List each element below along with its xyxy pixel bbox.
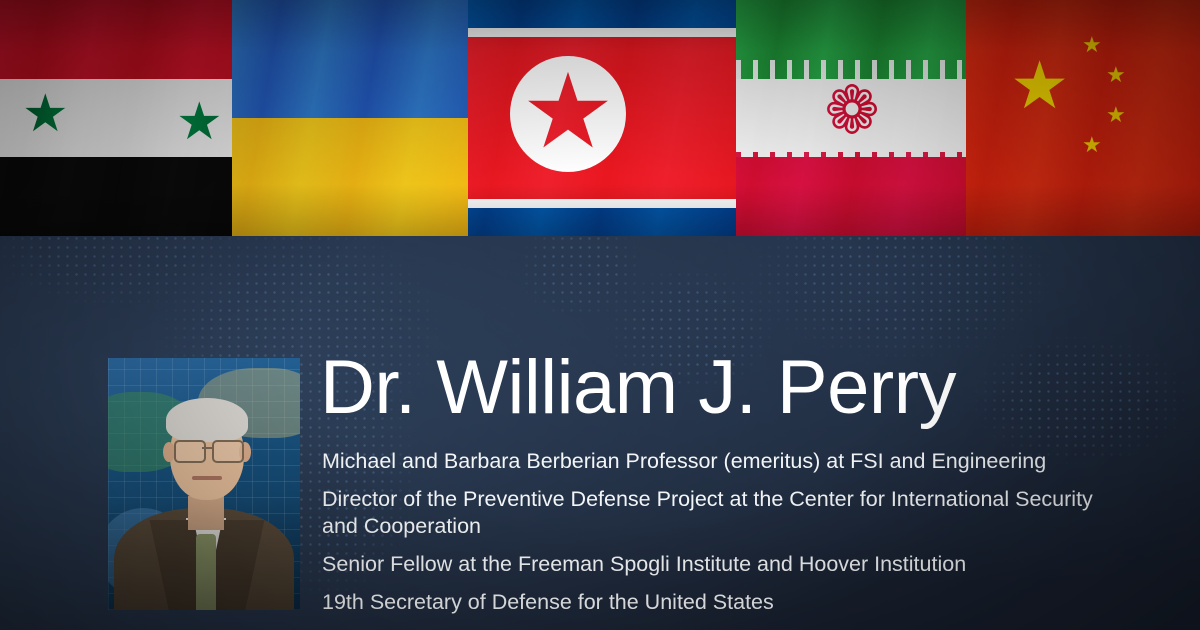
poster-canvas: ★ ★ ★ ❁ ★ ★ ★ ★ ★ (0, 0, 1200, 630)
ukraine-flag (232, 0, 468, 236)
china-small-star-icon: ★ (1106, 104, 1126, 126)
iran-kufic-script (736, 60, 966, 86)
china-small-star-icon: ★ (1106, 64, 1126, 86)
ukraine-yellow-band (232, 118, 468, 236)
syria-black-stripe (0, 157, 232, 236)
syria-red-stripe (0, 0, 232, 79)
north-korea-flag: ★ (468, 0, 736, 236)
china-flag: ★ ★ ★ ★ ★ (966, 0, 1200, 236)
flag-banner: ★ ★ ★ ❁ ★ ★ ★ ★ ★ (0, 0, 1200, 236)
iran-red-band (736, 157, 966, 236)
ukraine-blue-band (232, 0, 468, 118)
iran-emblem-icon: ❁ (814, 74, 890, 146)
iran-kufic-script (736, 152, 966, 178)
north-korea-white-disc (510, 56, 626, 172)
north-korea-star-icon: ★ (518, 62, 618, 162)
syria-white-stripe (0, 79, 232, 157)
iran-flag: ❁ (736, 0, 966, 236)
syria-flag: ★ ★ (0, 0, 232, 236)
china-large-star-icon: ★ (1010, 52, 1069, 118)
china-small-star-icon: ★ (1082, 134, 1102, 156)
north-korea-white-stripe (468, 199, 736, 207)
syria-star-icon: ★ (22, 88, 69, 140)
north-korea-red-band (468, 33, 736, 203)
iran-white-band (736, 79, 966, 158)
iran-green-band (736, 0, 966, 79)
north-korea-white-stripe (468, 28, 736, 36)
syria-star-icon: ★ (176, 96, 223, 148)
china-small-star-icon: ★ (1082, 34, 1102, 56)
